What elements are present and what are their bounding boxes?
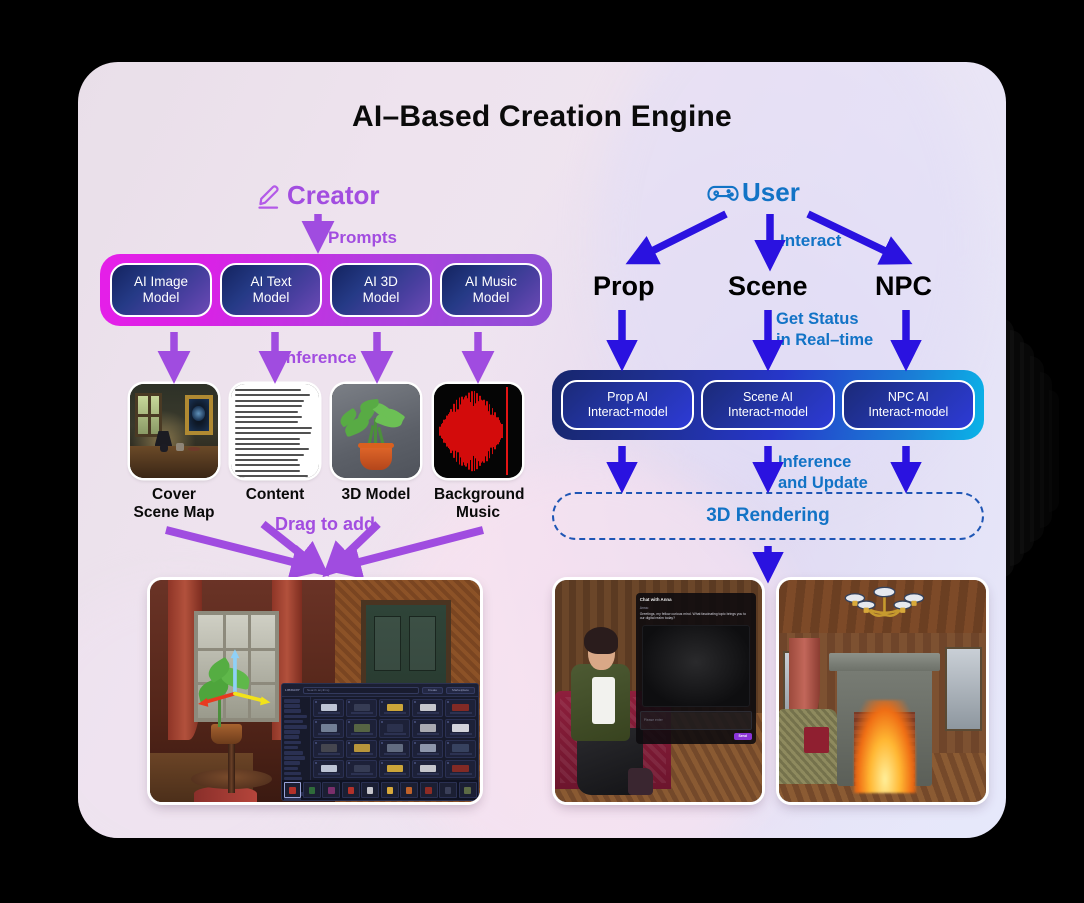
model-label-line1: AI Music [465,274,517,290]
asset-library-panel[interactable]: LIBRARY Search anything Create Marketpla… [281,683,479,801]
interact-label-line1: Scene AI [743,390,793,405]
3d-rendering-label: 3D Rendering [706,505,830,527]
chandelier-icon [841,584,928,642]
asset-caption: Background Music [434,486,522,522]
chat-input[interactable]: Please enter [640,711,752,730]
diagram-card: AI–Based Creation Engine Creator Prompts… [78,62,1006,838]
3d-scene-editor-screenshot[interactable]: LIBRARY Search anything Create Marketpla… [150,580,480,802]
target-node-scene: Scene [728,271,808,302]
screenshot-root: AI–Based Creation Engine Creator Prompts… [0,0,1084,903]
model-pill-ai-music[interactable]: AI Music Model [440,263,542,317]
fire-flame [854,700,916,793]
interact-label-line1: NPC AI [888,390,929,405]
target-node-npc: NPC [875,271,932,302]
playhead-icon [506,387,508,475]
model-label-line1: AI 3D [364,274,398,290]
model-label-line2: Model [253,290,290,306]
get-status-edge-label: Get Status in Real–time [776,309,873,350]
interact-edge-label: Interact [780,231,841,251]
interact-label-line1: Prop AI [607,390,648,405]
library-panel-title: LIBRARY [285,688,300,692]
room-interior-thumbnail [130,384,218,478]
asset-caption: Cover Scene Map [130,486,218,522]
user-node: User [706,177,800,208]
user-label: User [742,177,800,208]
asset-caption: 3D Model [332,486,420,504]
interact-pill-npc-ai[interactable]: NPC AI Interact-model [842,380,975,430]
asset-3d-model[interactable]: 3D Model [332,384,420,504]
gamepad-icon [706,180,740,206]
fireplace-room-render-screenshot[interactable] [779,580,986,802]
3d-rendering-node[interactable]: 3D Rendering [552,492,984,540]
chat-title: Chat with Anna [640,597,752,603]
npc-chat-screenshot[interactable]: Chat with Anna Anna: Greetings, my fello… [555,580,762,802]
inference-update-edge-label: Inference and Update [778,452,868,493]
prompts-edge-label: Prompts [328,228,397,248]
model-label-line2: Model [473,290,510,306]
creator-label: Creator [287,180,379,211]
interact-pill-prop-ai[interactable]: Prop AI Interact-model [561,380,694,430]
model-pill-ai-image[interactable]: AI Image Model [110,263,212,317]
interact-label-line2: Interact-model [728,405,808,420]
model-label-line2: Model [363,290,400,306]
pencil-edit-icon [255,182,285,210]
model-pill-ai-text[interactable]: AI Text Model [220,263,322,317]
potted-plant-thumbnail [332,384,420,478]
library-asset-grid[interactable] [311,697,478,780]
interact-model-group: Prop AI Interact-model Scene AI Interact… [552,370,984,440]
chat-send-button[interactable]: Send [734,733,752,740]
inference-edge-label: inference [281,348,357,368]
model-label-line1: AI Text [250,274,291,290]
tv-object [642,625,750,707]
library-create-button[interactable]: Create [422,687,443,694]
library-marketplace-button[interactable]: Marketplace [446,687,475,694]
page-stack-artifact [1049,390,1059,512]
chat-message: Greetings, my fellow curious mind. What … [640,612,752,621]
text-page-thumbnail [231,384,319,478]
page-title: AI–Based Creation Engine [78,100,1006,134]
library-hotbar[interactable] [282,780,478,800]
model-label-line2: Model [143,290,180,306]
model-pill-ai-3d[interactable]: AI 3D Model [330,263,432,317]
model-label-line1: AI Image [134,274,188,290]
transform-gizmo-icon [198,647,272,722]
library-category-list[interactable] [282,697,311,780]
asset-cover-scene-map[interactable]: Cover Scene Map [130,384,218,522]
creator-node: Creator [255,180,379,211]
interact-pill-scene-ai[interactable]: Scene AI Interact-model [701,380,834,430]
window [945,647,982,731]
chat-speaker: Anna: [640,606,752,611]
interact-label-line2: Interact-model [588,405,668,420]
library-search-input[interactable]: Search anything [303,687,419,694]
asset-background-music[interactable]: Background Music [434,384,522,522]
asset-content[interactable]: Content [231,384,319,504]
interact-label-line2: Interact-model [868,405,948,420]
audio-waveform-thumbnail [434,384,522,478]
target-node-prop: Prop [593,271,655,302]
chat-dialog[interactable]: Chat with Anna Anna: Greetings, my fello… [636,593,756,744]
drag-to-add-label: Drag to add [275,514,375,535]
ai-model-group: AI Image Model AI Text Model AI 3D Model… [100,254,552,326]
asset-caption: Content [231,486,319,504]
